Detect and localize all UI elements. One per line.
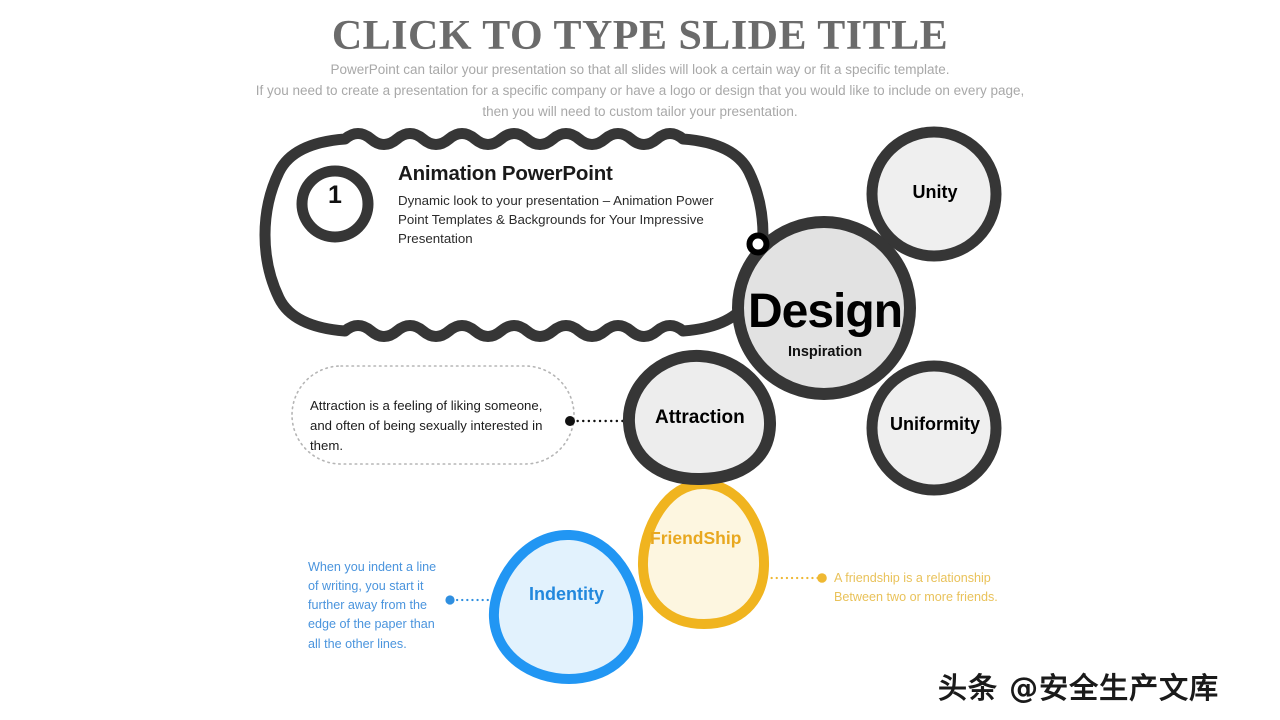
node-label-unity: Unity	[874, 182, 996, 203]
node-label-uniformity: Uniformity	[876, 414, 994, 435]
diagram-canvas	[0, 0, 1280, 720]
note-indentity-text: When you indent a line of writing, you s…	[308, 558, 440, 654]
node-label-attraction: Attraction	[655, 407, 767, 429]
node-label-indentity: Indentity	[529, 584, 625, 605]
node-label-friendship: FriendShip	[650, 528, 762, 549]
note-friendship-text: A friendship is a relationship Between t…	[834, 569, 1034, 607]
note-attraction-text: Attraction is a feeling of liking someon…	[310, 396, 558, 455]
watermark: 头条 @安全生产文库	[938, 665, 1219, 707]
node-label-design: Design	[722, 288, 928, 336]
callout-one-title: Animation PowerPoint	[398, 162, 738, 186]
badge-number: 1	[300, 181, 370, 210]
node-friendship-shape[interactable]	[643, 484, 764, 624]
node-indentity-shape[interactable]	[494, 535, 638, 679]
node-sublabel-inspiration: Inspiration	[722, 344, 928, 360]
callout-one-body: Dynamic look to your presentation – Anim…	[398, 192, 720, 249]
junction-ring-icon	[750, 236, 767, 253]
